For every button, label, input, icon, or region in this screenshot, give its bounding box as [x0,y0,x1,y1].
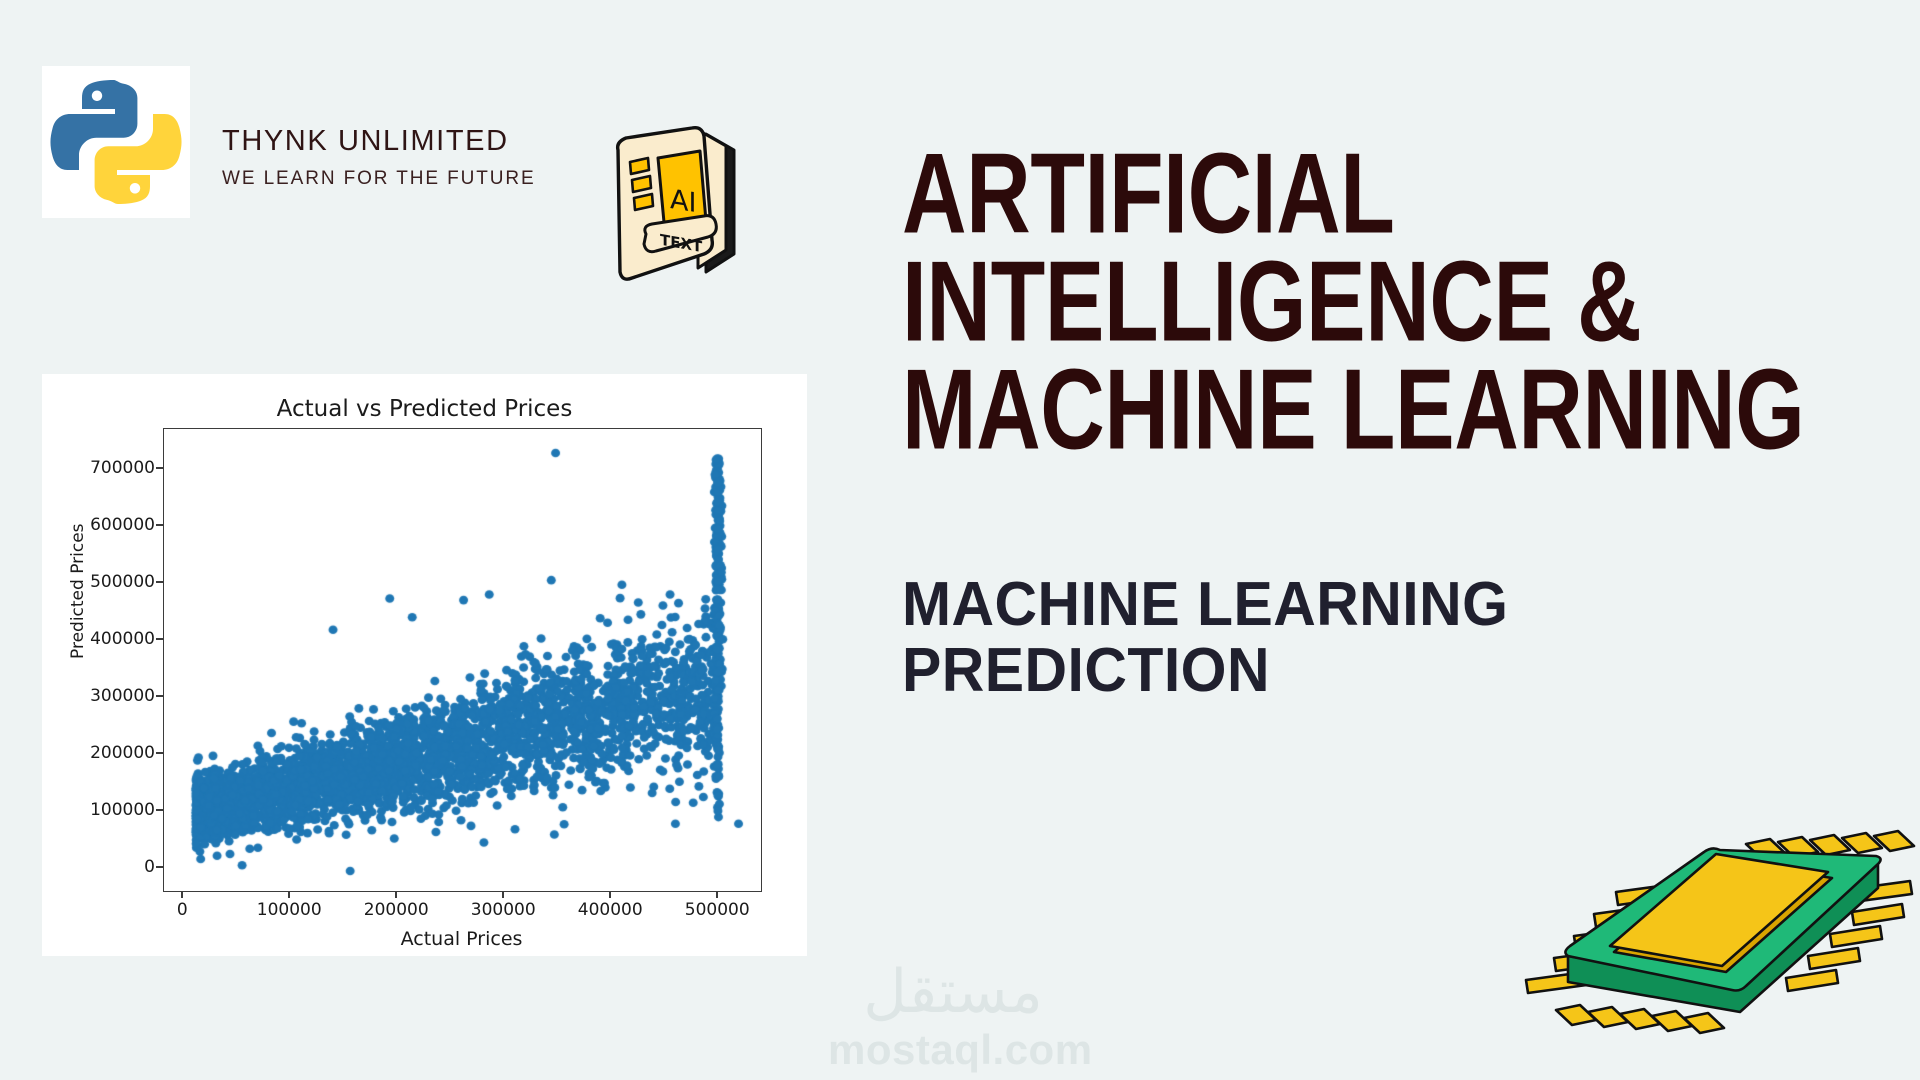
chart-y-tick-marks [156,428,163,890]
x-tick-mark [288,891,290,898]
poster-canvas: THYNK UNLIMITED WE LEARN FOR THE FUTURE … [0,0,1920,1080]
subtitle: MACHINE LEARNING PREDICTION [902,572,1882,703]
chart-x-tick-labels: 0100000200000300000400000500000 [163,900,760,926]
headline-line-1: ARTIFICIAL [902,140,1745,249]
y-tick-label: 500000 [90,572,155,592]
brand-name: THYNK UNLIMITED [222,125,536,158]
y-tick-mark [156,581,163,583]
y-tick-label: 700000 [90,458,155,478]
x-tick-label: 100000 [257,900,322,920]
y-tick-label: 200000 [90,743,155,763]
chart-card: Actual vs Predicted Prices Predicted Pri… [42,374,807,956]
y-tick-label: 300000 [90,686,155,706]
x-tick-mark [181,891,183,898]
chart-y-tick-labels: 0100000200000300000400000500000600000700… [42,428,155,890]
headline: ARTIFICIAL INTELLIGENCE & MACHINE LEARNI… [902,140,1882,463]
chart-x-tick-marks [163,891,760,898]
y-tick-label: 400000 [90,629,155,649]
y-tick-mark [156,638,163,640]
x-tick-mark [609,891,611,898]
microchip-icon [1498,806,1918,1068]
x-tick-mark [395,891,397,898]
y-tick-label: 100000 [90,800,155,820]
watermark-arabic-text: مستقل [828,962,1078,1022]
y-tick-mark [156,752,163,754]
scatter-points [164,429,761,891]
x-tick-mark [716,891,718,898]
ai-text-card-icon: AI TEXT [588,122,748,302]
headline-line-3: MACHINE LEARNING [902,356,1745,465]
x-tick-label: 300000 [471,900,536,920]
watermark: مستقل mostaql.com [828,962,1078,1074]
brand-tagline: WE LEARN FOR THE FUTURE [222,168,536,190]
x-tick-label: 200000 [364,900,429,920]
y-tick-mark [156,866,163,868]
chart-x-axis-label: Actual Prices [163,928,760,950]
headline-line-2: INTELLIGENCE & [902,248,1745,357]
y-tick-mark [156,695,163,697]
y-tick-mark [156,809,163,811]
chart-title: Actual vs Predicted Prices [42,396,807,422]
x-tick-label: 400000 [578,900,643,920]
brand-text-block: THYNK UNLIMITED WE LEARN FOR THE FUTURE [222,125,536,190]
y-tick-mark [156,467,163,469]
ai-screen-label: AI [670,184,696,219]
x-tick-mark [502,891,504,898]
y-tick-mark [156,524,163,526]
subtitle-line-1: MACHINE LEARNING [902,572,1833,638]
python-logo-icon [42,66,190,218]
y-tick-label: 600000 [90,515,155,535]
x-tick-label: 0 [177,900,188,920]
subtitle-line-2: PREDICTION [902,638,1833,704]
y-tick-label: 0 [144,857,155,877]
watermark-domain-text: mostaql.com [828,1026,1078,1074]
x-tick-label: 500000 [685,900,750,920]
chart-plot-area [163,428,762,892]
